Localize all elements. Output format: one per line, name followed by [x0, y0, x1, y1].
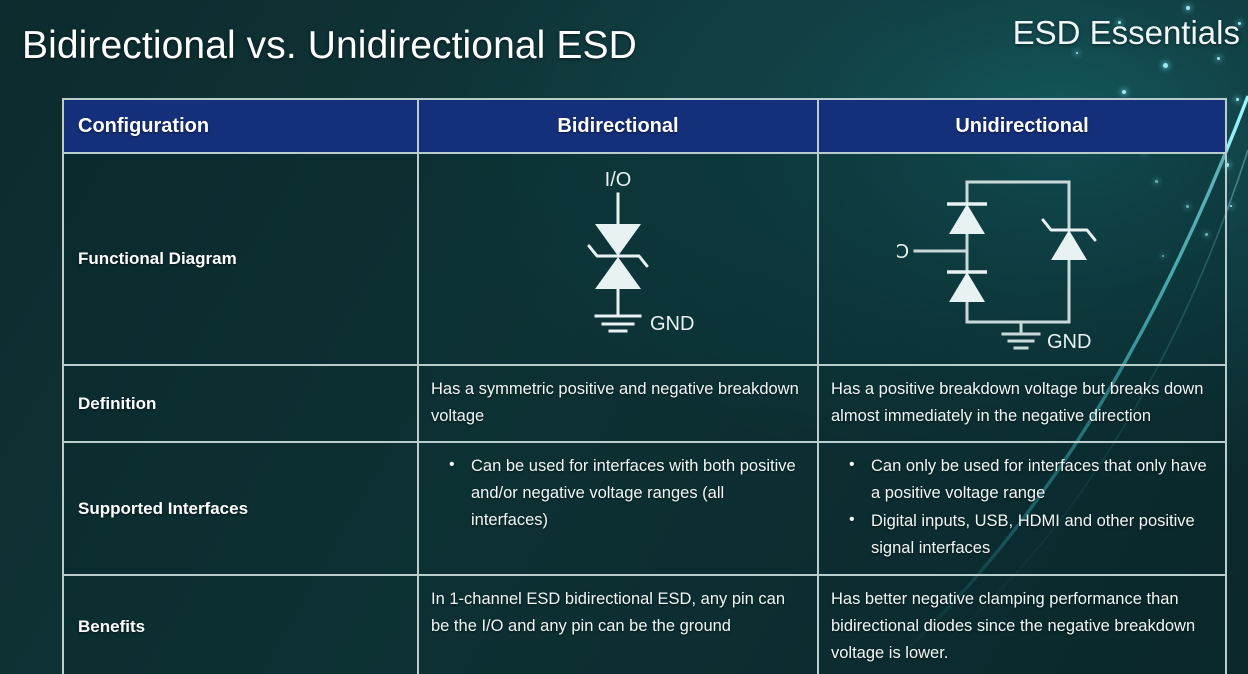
slide-header: Bidirectional vs. Unidirectional ESD ESD… [0, 0, 1248, 92]
list-item: Can only be used for interfaces that onl… [849, 453, 1213, 506]
column-header-bidirectional: Bidirectional [418, 99, 818, 153]
bullet-list: Can be used for interfaces with both pos… [431, 453, 805, 533]
comparison-table: Configuration Bidirectional Unidirection… [62, 98, 1227, 674]
bidirectional-io-label: I/O [605, 169, 632, 191]
series-kicker: ESD Essentials [1013, 14, 1240, 52]
cell-bidirectional-benefits: In 1-channel ESD bidirectional ESD, any … [418, 575, 818, 674]
row-label-functional-diagram: Functional Diagram [63, 153, 418, 365]
cell-unidirectional-definition: Has a positive breakdown voltage but bre… [818, 365, 1226, 442]
row-label-benefits: Benefits [63, 575, 418, 674]
unidirectional-esd-schematic-icon: I/O GND [897, 162, 1147, 357]
slide-root: Bidirectional vs. Unidirectional ESD ESD… [0, 0, 1248, 674]
row-label-definition: Definition [63, 365, 418, 442]
column-header-unidirectional: Unidirectional [818, 99, 1226, 153]
list-item: Can be used for interfaces with both pos… [449, 453, 805, 533]
star-dot [1236, 98, 1239, 101]
table-row: Benefits In 1-channel ESD bidirectional … [63, 575, 1226, 674]
cell-unidirectional-diagram: I/O GND [818, 153, 1226, 365]
cell-bidirectional-supported-interfaces: Can be used for interfaces with both pos… [418, 442, 818, 575]
column-header-configuration: Configuration [63, 99, 418, 153]
table-header-row: Configuration Bidirectional Unidirection… [63, 99, 1226, 153]
star-dot [1230, 205, 1232, 207]
table-row: Supported Interfaces Can be used for int… [63, 442, 1226, 575]
row-label-supported-interfaces: Supported Interfaces [63, 442, 418, 575]
bidirectional-gnd-label: GND [650, 313, 694, 335]
bullet-list: Can only be used for interfaces that onl… [831, 453, 1213, 561]
cell-bidirectional-definition: Has a symmetric positive and negative br… [418, 365, 818, 442]
unidirectional-io-label: I/O [897, 241, 909, 263]
page-title: Bidirectional vs. Unidirectional ESD [22, 24, 637, 68]
table-row: Definition Has a symmetric positive and … [63, 365, 1226, 442]
unidirectional-gnd-label: GND [1047, 331, 1091, 353]
list-item: Digital inputs, USB, HDMI and other posi… [849, 508, 1213, 561]
cell-unidirectional-supported-interfaces: Can only be used for interfaces that onl… [818, 442, 1226, 575]
cell-bidirectional-diagram: I/O GND [418, 153, 818, 365]
table-row: Functional Diagram [63, 153, 1226, 365]
cell-unidirectional-benefits: Has better negative clamping performance… [818, 575, 1226, 674]
bidirectional-esd-schematic-icon: I/O GND [523, 164, 713, 354]
